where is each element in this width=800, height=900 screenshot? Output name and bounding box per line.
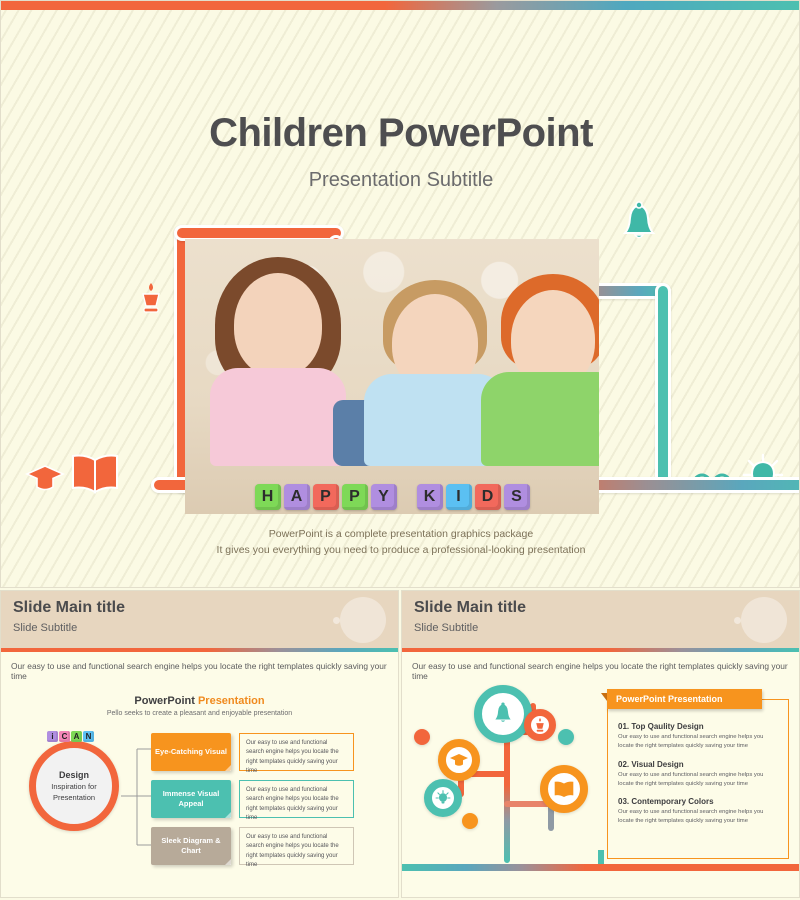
slide-left-header: Slide Main title Slide Subtitle xyxy=(1,591,398,648)
tree-node-lightbulb[interactable] xyxy=(424,779,462,817)
list-item-description: Our easy to use and functional search en… xyxy=(618,771,780,789)
graduation-cap-icon xyxy=(449,752,469,768)
diagram-row-description: Our easy to use and functional search en… xyxy=(239,733,354,771)
letter-block: K xyxy=(417,484,443,510)
tree-node-bell[interactable] xyxy=(474,685,532,743)
slide-left-subtitle: Slide Subtitle xyxy=(13,622,77,634)
ican-letter-block: A xyxy=(71,731,82,742)
diagram-row-label[interactable]: Sleek Diagram & Chart xyxy=(151,827,231,865)
design-circle-text: Design Inspiration for Presentation xyxy=(36,769,112,804)
bokeh-dot xyxy=(333,617,340,624)
hero-description: PowerPoint is a complete presentation gr… xyxy=(1,526,800,559)
bokeh-circle xyxy=(741,597,787,643)
slide-left-title: Slide Main title xyxy=(13,599,125,617)
slide-right-stem xyxy=(598,850,604,864)
slide-right-subtitle: Slide Subtitle xyxy=(414,622,478,634)
list-item: 02. Visual DesignOur easy to use and fun… xyxy=(618,760,780,789)
inspiration-diagram: iCAN Design Inspiration for Presentation… xyxy=(1,723,398,898)
slide-right[interactable]: Slide Main title Slide Subtitle Our easy… xyxy=(401,590,800,898)
tree-node-graduation-cap[interactable] xyxy=(438,739,480,781)
diagram-row-description: Our easy to use and functional search en… xyxy=(239,827,354,865)
slide-left-heading: PowerPoint Presentation xyxy=(1,695,398,707)
letter-block: D xyxy=(475,484,501,510)
icon-tree-graphic xyxy=(412,683,602,863)
happy-kids-blocks: HAPPYKIDS xyxy=(185,484,599,510)
letter-block: A xyxy=(284,484,310,510)
open-book-icon xyxy=(69,451,121,500)
list-item-title: 02. Visual Design xyxy=(618,760,780,769)
candle-icon xyxy=(534,717,546,733)
tree-node-book[interactable] xyxy=(540,765,588,813)
ican-letter-block: C xyxy=(59,731,70,742)
letter-block: S xyxy=(504,484,530,510)
bokeh-dot xyxy=(734,617,741,624)
tree-node-dot-teal xyxy=(558,729,574,745)
letter-block: I xyxy=(446,484,472,510)
design-circle-subtext: Inspiration for Presentation xyxy=(51,782,96,802)
hero-description-line1: PowerPoint is a complete presentation gr… xyxy=(1,526,800,542)
powerpoint-presentation-banner: PowerPoint Presentation xyxy=(607,689,762,709)
page-subtitle: Presentation Subtitle xyxy=(1,169,800,192)
tree-node-candle[interactable] xyxy=(524,709,556,741)
page-title: Children PowerPoint xyxy=(1,111,800,156)
children-photo: HAPPYKIDS xyxy=(185,239,599,514)
hero-top-gradient-bar xyxy=(1,1,800,10)
ican-letter-block: N xyxy=(83,731,94,742)
list-item: 01. Top Qaulity DesignOur easy to use an… xyxy=(618,722,780,751)
slide-left-lead-text: Our easy to use and functional search en… xyxy=(1,652,398,681)
letter-block: Y xyxy=(371,484,397,510)
list-item-title: 03. Contemporary Colors xyxy=(618,797,780,806)
ican-letter-block: i xyxy=(47,731,58,742)
bell-icon xyxy=(492,702,514,726)
slide-left-heading-sub: Pello seeks to create a pleasant and enj… xyxy=(1,710,398,717)
child-figure-boy-green xyxy=(483,264,599,466)
diagram-row-label[interactable]: Eye-Catching Visual xyxy=(151,733,231,771)
slide-right-lead-text: Our easy to use and functional search en… xyxy=(402,652,799,681)
letter-block: P xyxy=(313,484,339,510)
slide-right-footer-gradient xyxy=(402,864,800,871)
diagram-row-label[interactable]: Immense Visual Appeal xyxy=(151,780,231,818)
heading-plain: PowerPoint xyxy=(134,695,198,707)
open-book-icon xyxy=(553,779,575,799)
tree-node-dot-amber xyxy=(462,813,478,829)
bokeh-circle xyxy=(340,597,386,643)
ican-blocks: iCAN xyxy=(47,731,94,742)
hero-description-line2: It gives you everything you need to prod… xyxy=(1,542,800,558)
letter-block: H xyxy=(255,484,281,510)
diagram-row: Sleek Diagram & ChartOur easy to use and… xyxy=(151,827,354,865)
feature-list: 01. Top Qaulity DesignOur easy to use an… xyxy=(607,699,789,859)
design-circle-title: Design xyxy=(36,769,112,782)
list-item-description: Our easy to use and functional search en… xyxy=(618,733,780,751)
letter-block: P xyxy=(342,484,368,510)
slide-left[interactable]: Slide Main title Slide Subtitle Our easy… xyxy=(0,590,399,898)
slide-right-header: Slide Main title Slide Subtitle xyxy=(402,591,799,648)
tree-node-dot-orange xyxy=(414,729,430,745)
list-item-title: 01. Top Qaulity Design xyxy=(618,722,780,731)
child-figure-girl xyxy=(203,251,353,466)
list-item: 03. Contemporary ColorsOur easy to use a… xyxy=(618,797,780,826)
diagram-row: Eye-Catching VisualOur easy to use and f… xyxy=(151,733,354,771)
heading-accent: Presentation xyxy=(198,695,265,707)
diagram-row: Immense Visual AppealOur easy to use and… xyxy=(151,780,354,818)
list-item-description: Our easy to use and functional search en… xyxy=(618,808,780,826)
slide-right-title: Slide Main title xyxy=(414,599,526,617)
design-circle[interactable]: Design Inspiration for Presentation xyxy=(29,741,119,831)
hero-slide: Children PowerPoint Presentation Subtitl… xyxy=(0,0,800,588)
frame-segment-right xyxy=(655,283,671,493)
lightbulb-icon xyxy=(435,790,451,806)
diagram-row-description: Our easy to use and functional search en… xyxy=(239,780,354,818)
graduation-cap-icon xyxy=(25,463,65,498)
block-gap xyxy=(400,484,414,510)
